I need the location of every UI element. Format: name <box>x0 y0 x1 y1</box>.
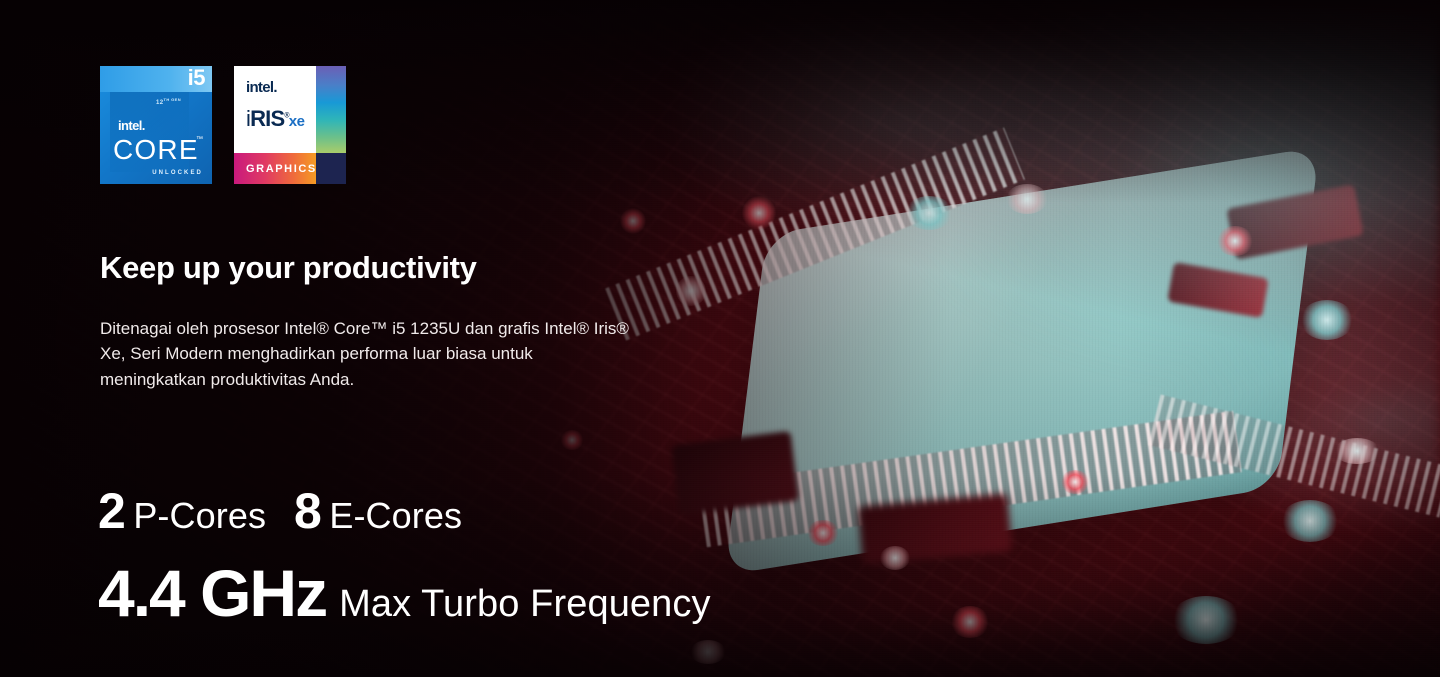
page-title: Keep up your productivity <box>100 250 720 286</box>
core-family-wordmark: CORE <box>113 136 199 164</box>
intel-iris-xe-graphics-badge: intel. iRIS®xe GRAPHICS <box>234 66 346 184</box>
processor-badges: i5 12TH GEN intel. CORE ™ UNLOCKED intel… <box>100 66 346 184</box>
e-cores-label: E-Cores <box>329 495 462 537</box>
max-turbo-frequency-value: 4.4 GHz <box>98 555 326 631</box>
core-generation-label: 12TH GEN <box>156 97 181 106</box>
spec-row-frequency: 4.4 GHz Max Turbo Frequency <box>98 555 711 631</box>
p-cores-value: 2 <box>98 482 124 540</box>
core-intel-wordmark: intel. <box>118 118 145 133</box>
spec-figures: 2 P-Cores 8 E-Cores 4.4 GHz Max Turbo Fr… <box>98 482 711 631</box>
core-trademark-symbol: ™ <box>196 136 203 143</box>
iris-name-wordmark: iRIS®xe <box>246 108 305 130</box>
iris-intel-wordmark: intel. <box>246 79 277 96</box>
banner-description: Ditenagai oleh prosesor Intel® Core™ i5 … <box>100 316 630 393</box>
intel-core-i5-badge: i5 12TH GEN intel. CORE ™ UNLOCKED <box>100 66 212 184</box>
banner-copy: Keep up your productivity Ditenagai oleh… <box>100 250 720 393</box>
iris-gradient-strip <box>316 66 346 153</box>
iris-graphics-label: GRAPHICS <box>246 163 317 175</box>
e-cores-value: 8 <box>294 482 320 540</box>
spec-row-cores: 2 P-Cores 8 E-Cores <box>98 482 711 540</box>
p-cores-label: P-Cores <box>133 495 266 537</box>
core-unlocked-label: UNLOCKED <box>152 170 203 176</box>
product-feature-banner: i5 12TH GEN intel. CORE ™ UNLOCKED intel… <box>0 0 1440 677</box>
iris-navy-square <box>316 153 346 184</box>
core-sku-label: i5 <box>188 66 205 91</box>
max-turbo-frequency-label: Max Turbo Frequency <box>339 583 711 626</box>
